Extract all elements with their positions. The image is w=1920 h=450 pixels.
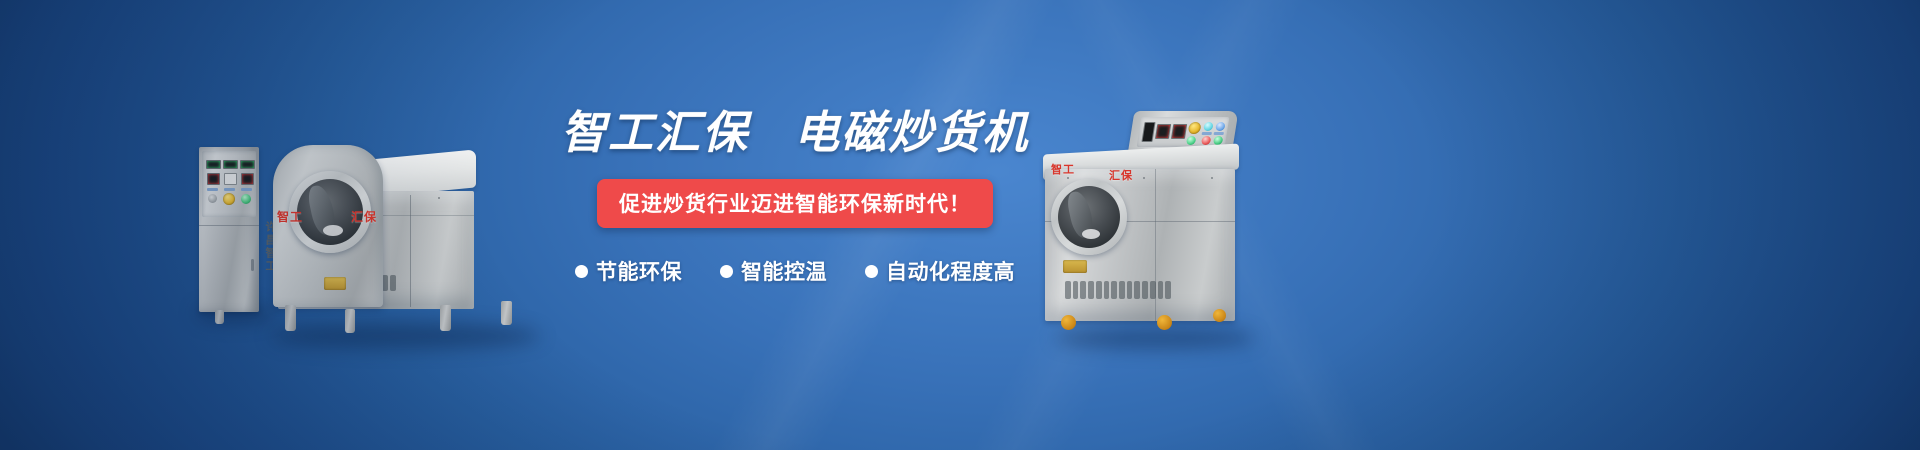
machine-left-brand-mark-2: 汇保 [351,208,377,225]
banner-tagline-badge: 促进炒货行业迈进智能环保新时代！ [597,179,993,228]
machine-right-emergency-stop-knob[interactable] [1188,122,1202,134]
machine-left-control-cabinet [199,147,259,312]
machine-left-display-3 [241,173,254,185]
machine-right-button-blue[interactable] [1215,122,1225,131]
machine-left-leg-2 [345,309,355,333]
machine-left-emergency-stop-knob[interactable] [223,193,235,205]
machine-right-brand-mark-1: 智工 [1051,161,1075,177]
machine-left-meter-1 [206,160,221,169]
machine-left-label-1 [207,188,218,191]
machine-right-rivet-2 [1143,177,1145,179]
feature-label: 节能环保 [596,256,682,286]
machine-left-meter-2 [223,160,238,169]
headline-brand: 智工汇保 [561,107,749,158]
machine-right-brand-mark-2: 汇保 [1109,167,1133,183]
machine-left-brand-mark-1: 智工 [277,208,303,225]
feature-item-energy-saving: 节能环保 [575,256,682,286]
machine-right-panel-face [1137,117,1230,147]
machine-right-button-red[interactable] [1201,136,1211,145]
banner-feature-list: 节能环保 智能控温 自动化程度高 [560,256,1030,286]
machine-right-drum-highlight [1082,229,1100,239]
banner-copy: 智工汇保 电磁炒货机 促进炒货行业迈进智能环保新时代！ 节能环保 智能控温 自动… [560,110,1030,286]
machine-right-drum-opening[interactable] [1058,186,1120,248]
machine-left-selector-switch[interactable] [208,194,217,203]
promo-banner: 许昌智工 [0,0,1920,450]
machine-right-caster-3 [1213,309,1226,322]
machine-left-label-3 [241,188,252,191]
machine-right-caster-1 [1061,315,1076,330]
machine-right-rivet-1 [1067,177,1069,179]
machine-left-panel-face [202,151,256,217]
feature-label: 智能控温 [741,256,827,286]
machine-left-leg-3 [440,305,451,331]
headline-product: 电磁炒货机 [794,107,1029,158]
machine-left-display-2 [224,173,237,185]
machine-right-display-2 [1171,124,1187,139]
machine-left-label-2 [224,188,235,191]
machine-left-leg-4 [501,301,512,325]
machine-right-name-plaque [1063,260,1087,273]
machine-left: 许昌智工 [185,105,565,360]
machine-right-button-green[interactable] [1186,136,1196,145]
machine-left-drum-highlight [323,225,343,236]
machine-left-cabinet-seam [199,225,259,226]
machine-left-display-1 [207,173,220,185]
machine-right-caster-2 [1157,315,1172,330]
machine-left-cabinet-latch [251,259,254,271]
feature-item-high-automation: 自动化程度高 [865,256,1015,286]
machine-left-start-button[interactable] [241,194,251,204]
machine-right-label-1 [1202,132,1212,135]
bullet-dot-icon [720,265,733,278]
machine-right-shadow [1055,327,1255,349]
bullet-dot-icon [865,265,878,278]
bullet-dot-icon [575,265,588,278]
machine-right-display-1 [1155,124,1171,139]
machine-left-shadow [270,323,540,349]
machine-left-leg-1 [285,305,296,331]
machine-left-name-plaque [324,277,346,290]
feature-item-smart-temp-control: 智能控温 [720,256,827,286]
machine-left-meter-3 [240,160,255,169]
machine-right-rivet-3 [1211,177,1213,179]
feature-label: 自动化程度高 [886,256,1015,286]
machine-left-door-seam-2 [410,195,411,307]
banner-badge-wrap: 促进炒货行业迈进智能环保新时代！ [560,179,1030,228]
machine-right-button-cyan[interactable] [1203,122,1213,131]
machine-right-meter-1 [1141,122,1155,142]
banner-headline: 智工汇保 电磁炒货机 [560,110,1030,155]
machine-right-vent-grille [1065,281,1171,299]
machine-left-cabinet-leg [215,310,224,324]
machine-right: 智工 汇保 [1035,105,1295,355]
machine-right-label-2 [1214,132,1224,135]
machine-left-rivet-3 [438,197,440,199]
